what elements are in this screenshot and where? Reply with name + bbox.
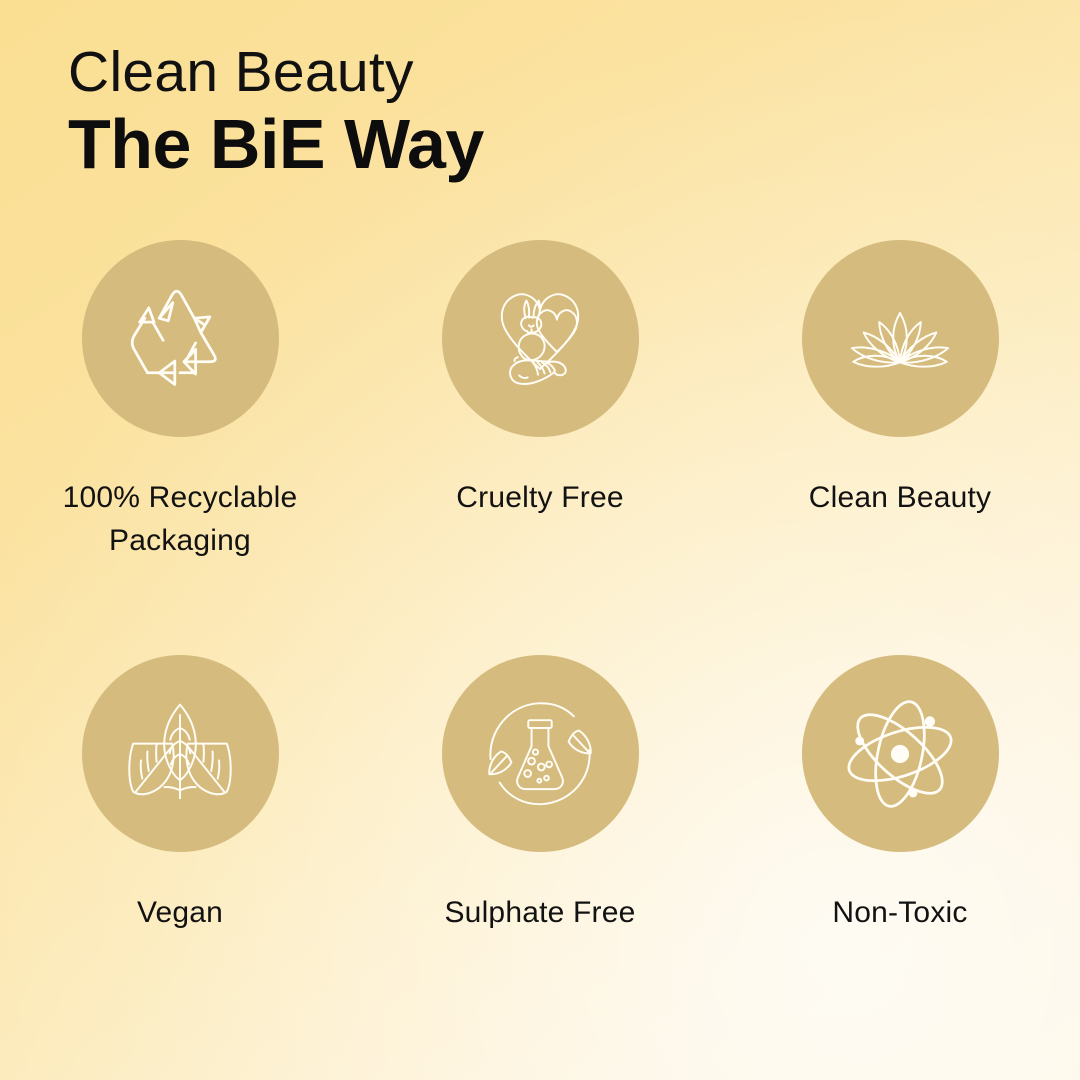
badge-circle [82,655,279,852]
feature-item-sulphate-free: Sulphate Free [360,655,720,1070]
feature-label: Vegan [137,892,223,935]
feature-label: Sulphate Free [444,892,635,935]
badge-circle [442,655,639,852]
feature-label: Clean Beauty [809,477,992,520]
title-line-2: The BiE Way [68,105,868,183]
three-leaves-icon [115,689,245,819]
clean-beauty-infographic: Clean Beauty The BiE Way [0,0,1080,1080]
feature-item-clean-beauty: Clean Beauty [720,240,1080,655]
lotus-flower-icon [835,274,965,404]
feature-label: Cruelty Free [456,477,623,520]
bunny-in-hand-heart-icon [475,274,605,404]
flask-with-leaves-icon [475,689,605,819]
feature-item-vegan: Vegan [0,655,360,1070]
feature-item-recyclable-packaging: 100% Recyclable Packaging [0,240,360,655]
page-title: Clean Beauty The BiE Way [68,44,868,183]
atom-icon [835,689,965,819]
feature-label: Non-Toxic [832,892,967,935]
badge-circle [802,240,999,437]
feature-label: 100% Recyclable Packaging [25,477,335,562]
title-line-1: Clean Beauty [68,44,868,101]
feature-item-cruelty-free: Cruelty Free [360,240,720,655]
badge-circle [82,240,279,437]
feature-grid: 100% Recyclable Packaging [0,240,1080,1070]
badge-circle [802,655,999,852]
feature-item-non-toxic: Non-Toxic [720,655,1080,1070]
recycle-icon [115,274,245,404]
badge-circle [442,240,639,437]
